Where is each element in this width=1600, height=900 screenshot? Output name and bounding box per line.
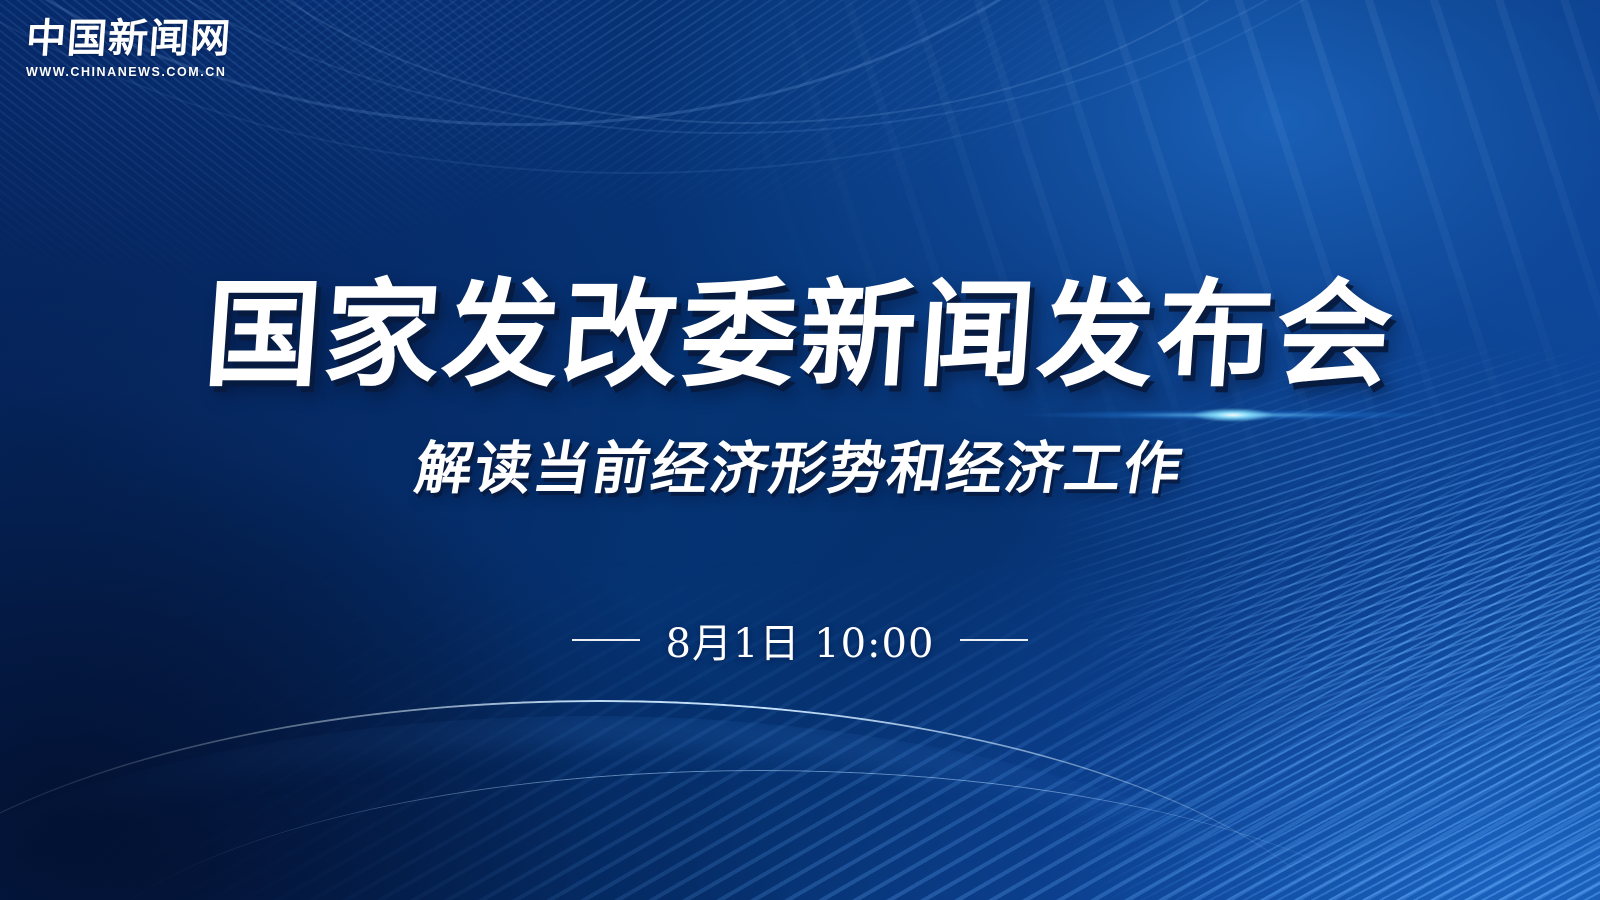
chinanews-logo[interactable]: 中国新闻网 WWW.CHINANEWS.COM.CN (26, 18, 226, 79)
curved-band-3 (120, 0, 1374, 124)
curved-band-4 (0, 0, 1600, 174)
date-time-label: 8月1日 10:00 (666, 611, 935, 669)
news-conference-poster: 中国新闻网 WWW.CHINANEWS.COM.CN 国家发改委新闻发布会 解读… (0, 0, 1600, 900)
arc-light-streak-secondary (60, 770, 1460, 900)
poster-content: 国家发改委新闻发布会 解读当前经济形势和经济工作 8月1日 10:00 (0, 268, 1600, 669)
arc-glow-halo (0, 716, 1440, 900)
page-subtitle: 解读当前经济形势和经济工作 (0, 423, 1600, 505)
page-title: 国家发改委新闻发布会 (0, 268, 1600, 403)
date-time-bar: 8月1日 10:00 (0, 611, 1600, 669)
dash-left-icon (572, 639, 640, 641)
chinanews-logo-url: WWW.CHINANEWS.COM.CN (26, 65, 226, 79)
chinanews-logo-icon: 中国新闻网 (25, 18, 228, 60)
curved-band-2 (0, 0, 1600, 134)
arc-light-streak (0, 700, 1380, 900)
dash-right-icon (960, 639, 1028, 641)
